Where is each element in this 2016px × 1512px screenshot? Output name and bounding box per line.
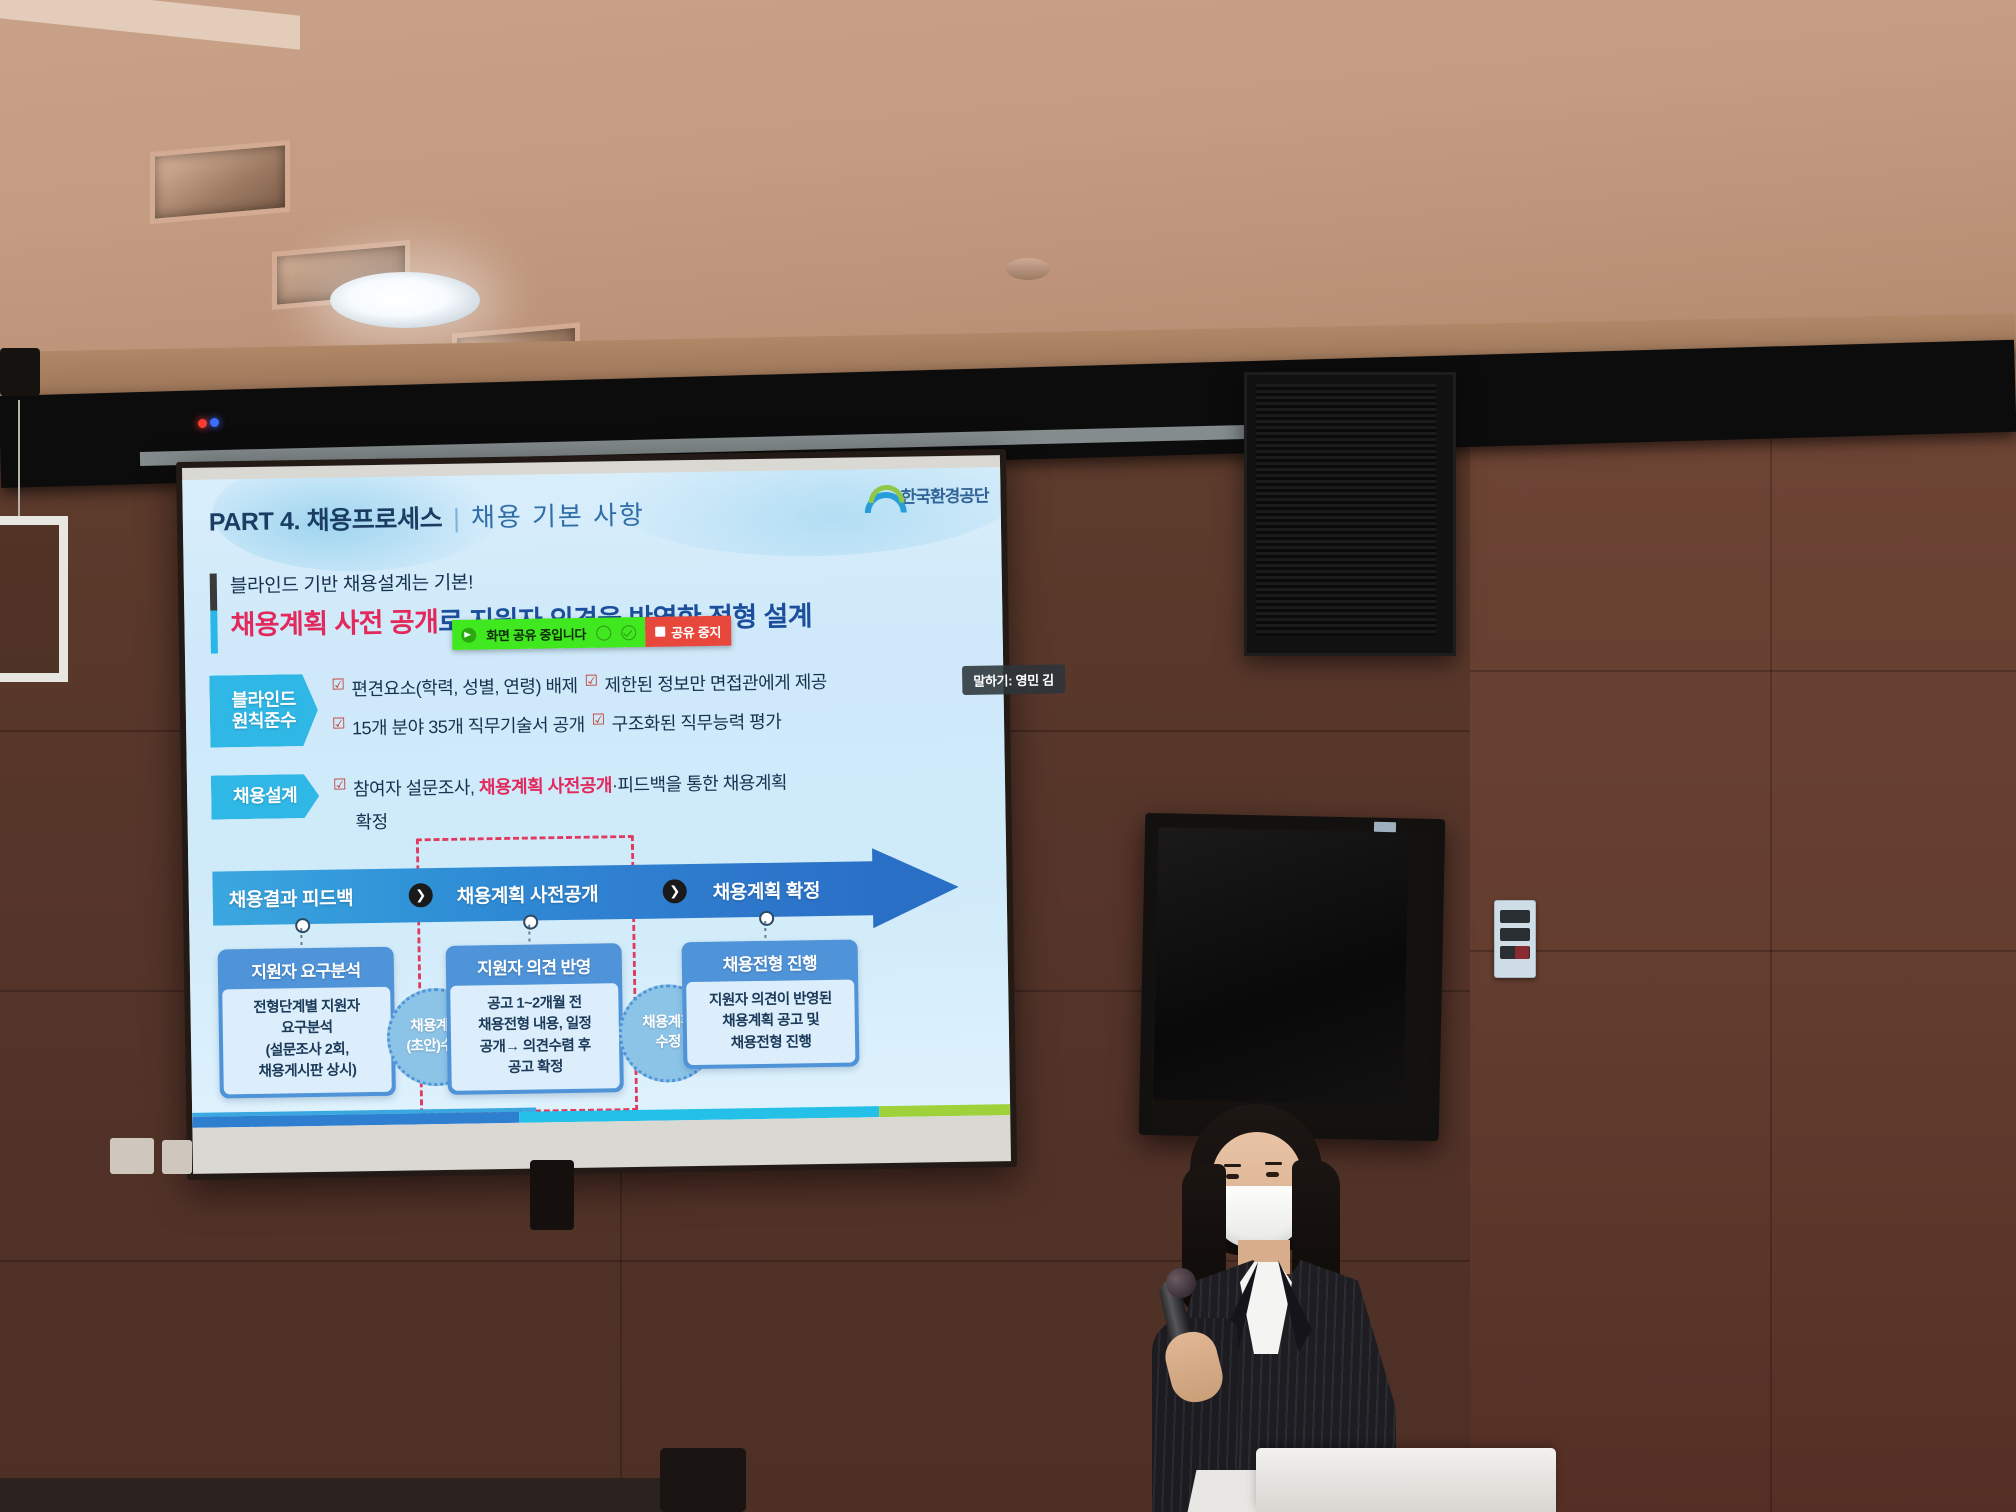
process-step-2: 채용계획 사전공개 [456,866,598,922]
ceiling-vent-icon [150,140,290,224]
process-card: 채용전형 진행 지원자 의견이 반영된 채용계획 공고 및 채용전형 진행 [682,939,860,1069]
monitor-brand-badge [1374,822,1396,832]
slide-title-part: PART 4. 채용프로세스 [209,499,443,539]
ceiling-recess [0,0,300,50]
stop-square-icon [655,627,665,637]
pause-share-icon[interactable] [596,625,611,640]
speaker-grill [1256,384,1436,636]
hanging-frame [0,516,68,682]
checkbox-icon: ☑ [331,675,344,695]
process-step-3: 채용계획 확정 [712,862,820,918]
panel-port-red [1515,946,1529,959]
podium [1256,1448,1556,1512]
card-body: 전형단계별 지원자 요구분석 (설문조사 2회, 채용게시판 상시) [222,987,392,1094]
wall-speaker [0,348,40,396]
checklist-post: ·피드백을 통한 채용계획 [612,773,787,796]
annotate-icon[interactable] [621,625,636,640]
wall-outlet [162,1140,192,1174]
checklist-row: ☑ 편견요소(학력, 성별, 연령) 배제 ☑ 제한된 정보만 면접관에게 제공 [331,668,827,702]
checkbox-icon: ☑ [584,672,597,692]
active-speaker-badge: 말하기: 영민 김 [962,664,1065,695]
projection-screen: PART 4. 채용프로세스 | 채용 기본 사항 한국환경공단 블라인드 기반… [182,455,1011,1174]
hanging-wire [18,400,20,522]
checkbox-icon: ☑ [332,714,345,734]
ceiling-light [330,272,480,328]
connector-line [300,928,302,950]
card-body: 공고 1~2개월 전 채용전형 내용, 일정 공개→ 의견수렴 후 공고 확정 [450,983,620,1090]
group-tag-blind-label: 블라인드 원칙준수 [231,689,296,732]
card-header: 채용전형 진행 [686,944,855,983]
presenter-eyebrow [1265,1162,1282,1165]
wall-control-panel[interactable] [1494,900,1536,978]
floor-equipment [660,1448,746,1512]
slide-title: PART 4. 채용프로세스 | 채용 기본 사항 [209,495,646,539]
headline-accent-bar [210,573,218,653]
slide-title-divider: | [453,503,460,534]
connector-line [764,921,766,943]
zoom-sharing-label: 화면 공유 중입니다 [486,623,586,644]
presenter-eyebrow [1224,1164,1241,1167]
zoom-share-banner[interactable]: 화면 공유 중입니다 공유 중지 [452,616,731,650]
checklist-right: 구조화된 직무능력 평가 [611,708,781,737]
process-arrow-head [872,847,959,928]
smoke-detector-icon [1006,258,1050,280]
process-step-1: 채용결과 피드백 [228,869,353,925]
wall-seam [1470,950,2016,952]
group-tag-design: 채용설계 [211,774,320,820]
organization-logo: 한국환경공단 [864,481,988,508]
checklist-row: ☑ 15개 분야 35개 직무기술서 공개 ☑ 구조화된 직무능력 평가 [332,707,828,741]
swoosh-icon [865,484,897,506]
front-table [0,1478,720,1512]
panel-port [1500,928,1530,941]
process-arrow: 채용결과 피드백 ❯ 채용계획 사전공개 ❯ 채용계획 확정 [212,860,955,926]
presenter-eye [1226,1174,1239,1179]
footer-segment [879,1104,1010,1117]
checkbox-icon: ☑ [592,710,605,730]
checklist-pre: 참여자 설문조사, [353,777,479,799]
group-tag-blind: 블라인드 원칙준수 [209,674,318,748]
panel-port [1500,910,1530,923]
presenter-eye [1266,1172,1279,1177]
status-led-red [198,419,207,428]
checklist-row: ☑ 참여자 설문조사, 채용계획 사전공개·피드백을 통한 채용계획 [333,769,787,802]
stop-share-button[interactable]: 공유 중지 [645,616,731,647]
checklist-left: 편견요소(학력, 성별, 연령) 배제 [351,672,578,702]
wall-seam [1770,430,1772,1512]
right-wall [1470,430,2016,1512]
wall-outlet [110,1138,154,1174]
process-card: 지원자 의견 반영 공고 1~2개월 전 채용전형 내용, 일정 공개→ 의견수… [446,943,624,1095]
screen-stand [530,1160,574,1230]
checklist-text: 참여자 설문조사, 채용계획 사전공개·피드백을 통한 채용계획 [353,769,787,802]
card-body: 지원자 의견이 반영된 채용계획 공고 및 채용전형 진행 [686,980,855,1066]
conference-room-photo: PART 4. 채용프로세스 | 채용 기본 사항 한국환경공단 블라인드 기반… [0,0,2016,1512]
checklist-emphasis: 채용계획 사전공개 [479,775,612,797]
monitor-screen [1153,827,1409,1104]
zoom-sharing-status: 화면 공유 중입니다 [452,617,645,650]
checklist-left: 15개 분야 35개 직무기술서 공개 [352,711,585,741]
checklist-right: 제한된 정보만 면접관에게 제공 [604,668,827,697]
zoom-logo-icon [461,627,476,642]
card-header: 지원자 의견 반영 [450,947,619,986]
checkbox-icon: ☑ [333,775,346,795]
checklist-continuation: 확정 [355,802,787,835]
stop-share-label: 공유 중지 [671,621,721,641]
connector-line [528,925,530,947]
wall-seam [1470,670,2016,672]
slide-title-subtitle: 채용 기본 사항 [471,495,646,535]
connector-knob [295,918,310,933]
group-rows-design: ☑ 참여자 설문조사, 채용계획 사전공개·피드백을 통한 채용계획 확정 [333,769,788,835]
connector-knob [759,911,774,926]
organization-name: 한국환경공단 [900,481,988,507]
group-tag-design-label: 채용설계 [233,786,298,808]
group-rows-blind: ☑ 편견요소(학력, 성별, 연령) 배제 ☑ 제한된 정보만 면접관에게 제공… [331,668,828,754]
headline-emphasis: 채용계획 사전 공개 [230,607,438,640]
process-card: 지원자 요구분석 전형단계별 지원자 요구분석 (설문조사 2회, 채용게시판 … [218,947,396,1099]
presentation-slide: PART 4. 채용프로세스 | 채용 기본 사항 한국환경공단 블라인드 기반… [182,467,1010,1128]
card-header: 지원자 요구분석 [222,951,391,990]
status-led-blue [210,418,219,427]
